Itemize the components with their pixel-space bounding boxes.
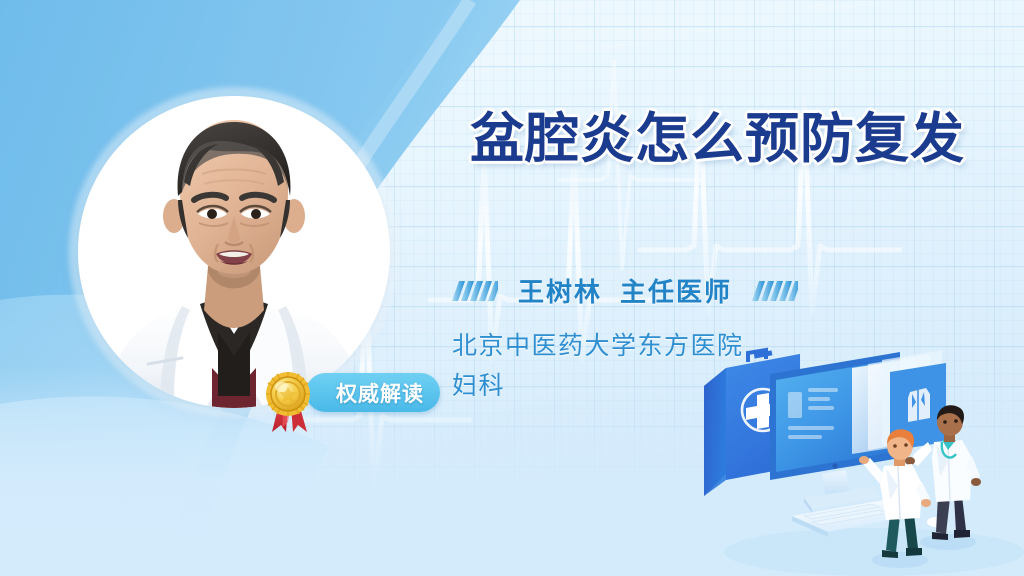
doctor-portrait — [78, 96, 390, 408]
doctor-credentials: 王树林 主任医师 — [518, 272, 732, 309]
slash-decoration-left-icon — [452, 279, 498, 303]
medal-icon — [262, 370, 318, 434]
doctor-hospital: 北京中医药大学东方医院 — [452, 326, 744, 362]
doctor-rank: 主任医师 — [620, 272, 732, 309]
badge-label: 权威解读 — [336, 378, 424, 408]
doctor-name-row: 王树林 主任医师 — [452, 272, 798, 309]
page-title: 盆腔炎怎么预防复发 — [470, 110, 990, 168]
lab-coat-icon — [908, 388, 930, 422]
badge-pill: 权威解读 — [306, 373, 440, 412]
slash-decoration-right-icon — [752, 279, 798, 303]
doctor-name: 王树林 — [518, 272, 602, 309]
thumbnail-canvas: 权威解读 — [0, 0, 1024, 576]
portrait-circle-frame — [78, 96, 390, 408]
portrait-illustration — [78, 96, 390, 408]
telemedicine-illustration — [704, 346, 1024, 576]
doctor-department: 妇科 — [452, 366, 505, 402]
